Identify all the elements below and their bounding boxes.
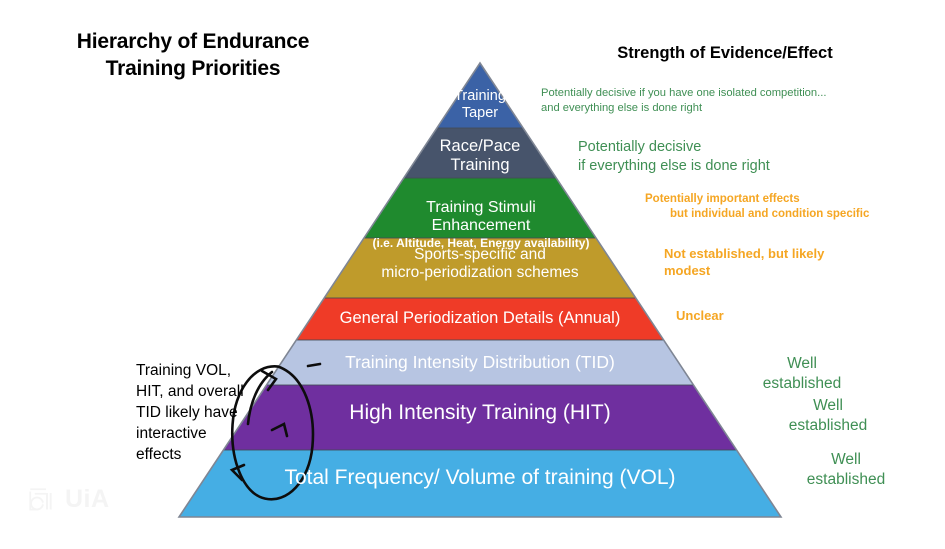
uia-logo-text: UiA xyxy=(65,487,110,512)
evidence-note-training-taper: Potentially decisive if you have one iso… xyxy=(541,86,841,116)
evidence-note-race-pace-training: Potentially decisive if everything else … xyxy=(578,138,843,176)
evidence-note-total-frequency-volume: Well established xyxy=(776,450,916,491)
diagram-canvas: Hierarchy of Endurance Training Prioriti… xyxy=(0,0,945,549)
uia-logo: UiA xyxy=(28,478,138,520)
evidence-note-general-periodization-details: Unclear xyxy=(676,307,836,324)
interaction-annotation-note: Training VOL, HIT, and overall TID likel… xyxy=(136,360,276,465)
evidence-note-sports-specific-micro-periodization: Not established, but likely modest xyxy=(664,245,884,279)
evidence-note-training-intensity-distribution: Well established xyxy=(732,354,872,395)
evidence-note-high-intensity-training: Well established xyxy=(758,396,898,437)
evidence-note-training-stimuli-enhancement: Potentially important effects but indivi… xyxy=(670,192,930,222)
uia-logo-mark-icon xyxy=(28,484,58,514)
